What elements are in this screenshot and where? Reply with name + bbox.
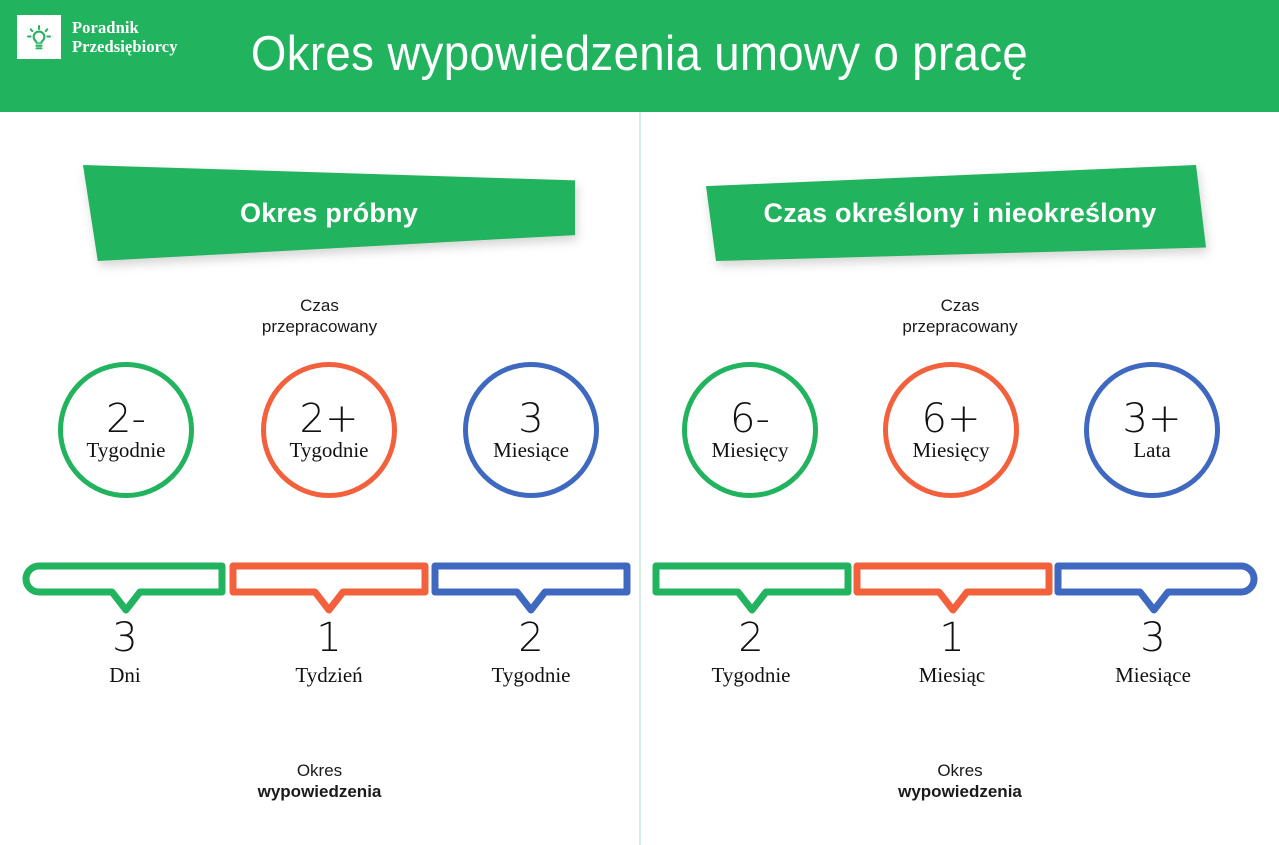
bracket-connectors (0, 562, 639, 614)
result-unit: Tygodnie (653, 663, 849, 688)
caption-worked-time: Czas przepracowany (641, 295, 1279, 338)
result-unit: Tygodnie (433, 663, 629, 688)
column-okres-probny: Okres próbny Czas przepracowany 2- Tygod… (0, 112, 639, 845)
result-number: 1 (231, 617, 427, 659)
caption-line-2: wypowiedzenia (641, 781, 1279, 802)
bracket-connectors (641, 562, 1279, 614)
result-unit: Miesiąc (854, 663, 1050, 688)
result-3: 3 Miesiące (1055, 617, 1251, 688)
result-unit: Tydzień (231, 663, 427, 688)
worked-time-circles: 6- Miesięcy 6+ Miesięcy 3+ Lata (641, 362, 1279, 510)
result-number: 2 (653, 617, 849, 659)
circle-unit: Miesiące (493, 440, 569, 461)
result-number: 3 (1055, 617, 1251, 659)
circle-worked-3[interactable]: 3+ Lata (1084, 362, 1220, 498)
section-banner: Czas określony i nieokreślony (706, 165, 1206, 261)
result-1: 3 Dni (27, 617, 223, 688)
caption-worked-time: Czas przepracowany (0, 295, 639, 338)
circle-worked-1[interactable]: 6- Miesięcy (682, 362, 818, 498)
caption-line-2: wypowiedzenia (0, 781, 639, 802)
result-number: 1 (854, 617, 1050, 659)
page-title: Okres wypowiedzenia umowy o pracę (45, 26, 1234, 82)
bracket-connector-3 (433, 562, 629, 614)
result-1: 2 Tygodnie (653, 617, 849, 688)
bracket-connector-3 (1056, 562, 1252, 614)
result-2: 1 Miesiąc (854, 617, 1050, 688)
bracket-connector-1 (28, 562, 224, 614)
circle-number: 2+ (300, 400, 359, 438)
caption-line-2: przepracowany (641, 316, 1279, 337)
circle-number: 3 (518, 400, 543, 438)
circle-worked-2[interactable]: 6+ Miesięcy (883, 362, 1019, 498)
result-3: 2 Tygodnie (433, 617, 629, 688)
bracket-connector-2 (231, 562, 427, 614)
caption-line-1: Czas (641, 295, 1279, 316)
result-number: 2 (433, 617, 629, 659)
worked-time-circles: 2- Tygodnie 2+ Tygodnie 3 Miesiące (0, 362, 639, 510)
circle-unit: Tygodnie (86, 440, 165, 461)
result-unit: Dni (27, 663, 223, 688)
circle-unit: Lata (1133, 440, 1170, 461)
caption-line-1: Czas (0, 295, 639, 316)
banner-label: Okres próbny (83, 165, 575, 261)
caption-notice-period: Okres wypowiedzenia (641, 760, 1279, 803)
circle-unit: Tygodnie (289, 440, 368, 461)
circle-worked-2[interactable]: 2+ Tygodnie (261, 362, 397, 498)
section-banner: Okres próbny (83, 165, 575, 261)
banner-label: Czas określony i nieokreślony (706, 165, 1210, 261)
circle-number: 2- (106, 400, 146, 438)
result-number: 3 (27, 617, 223, 659)
bracket-connector-1 (654, 562, 850, 614)
circle-number: 6- (730, 400, 770, 438)
result-2: 1 Tydzień (231, 617, 427, 688)
column-czas-okreslony: Czas określony i nieokreślony Czas przep… (641, 112, 1279, 845)
result-unit: Miesiące (1055, 663, 1251, 688)
bracket-connector-2 (855, 562, 1051, 614)
caption-line-1: Okres (641, 760, 1279, 781)
infographic-body: Okres próbny Czas przepracowany 2- Tygod… (0, 112, 1279, 845)
caption-notice-period: Okres wypowiedzenia (0, 760, 639, 803)
circle-worked-3[interactable]: 3 Miesiące (463, 362, 599, 498)
page-header: Poradnik Przedsiębiorcy Okres wypowiedze… (0, 0, 1279, 112)
circle-number: 6+ (922, 400, 981, 438)
circle-number: 3+ (1123, 400, 1182, 438)
circle-worked-1[interactable]: 2- Tygodnie (58, 362, 194, 498)
caption-line-1: Okres (0, 760, 639, 781)
caption-line-2: przepracowany (0, 316, 639, 337)
circle-unit: Miesięcy (712, 440, 789, 461)
notice-period-results: 3 Dni 1 Tydzień 2 Tygodnie (0, 617, 639, 727)
circle-unit: Miesięcy (913, 440, 990, 461)
notice-period-results: 2 Tygodnie 1 Miesiąc 3 Miesiące (641, 617, 1279, 727)
